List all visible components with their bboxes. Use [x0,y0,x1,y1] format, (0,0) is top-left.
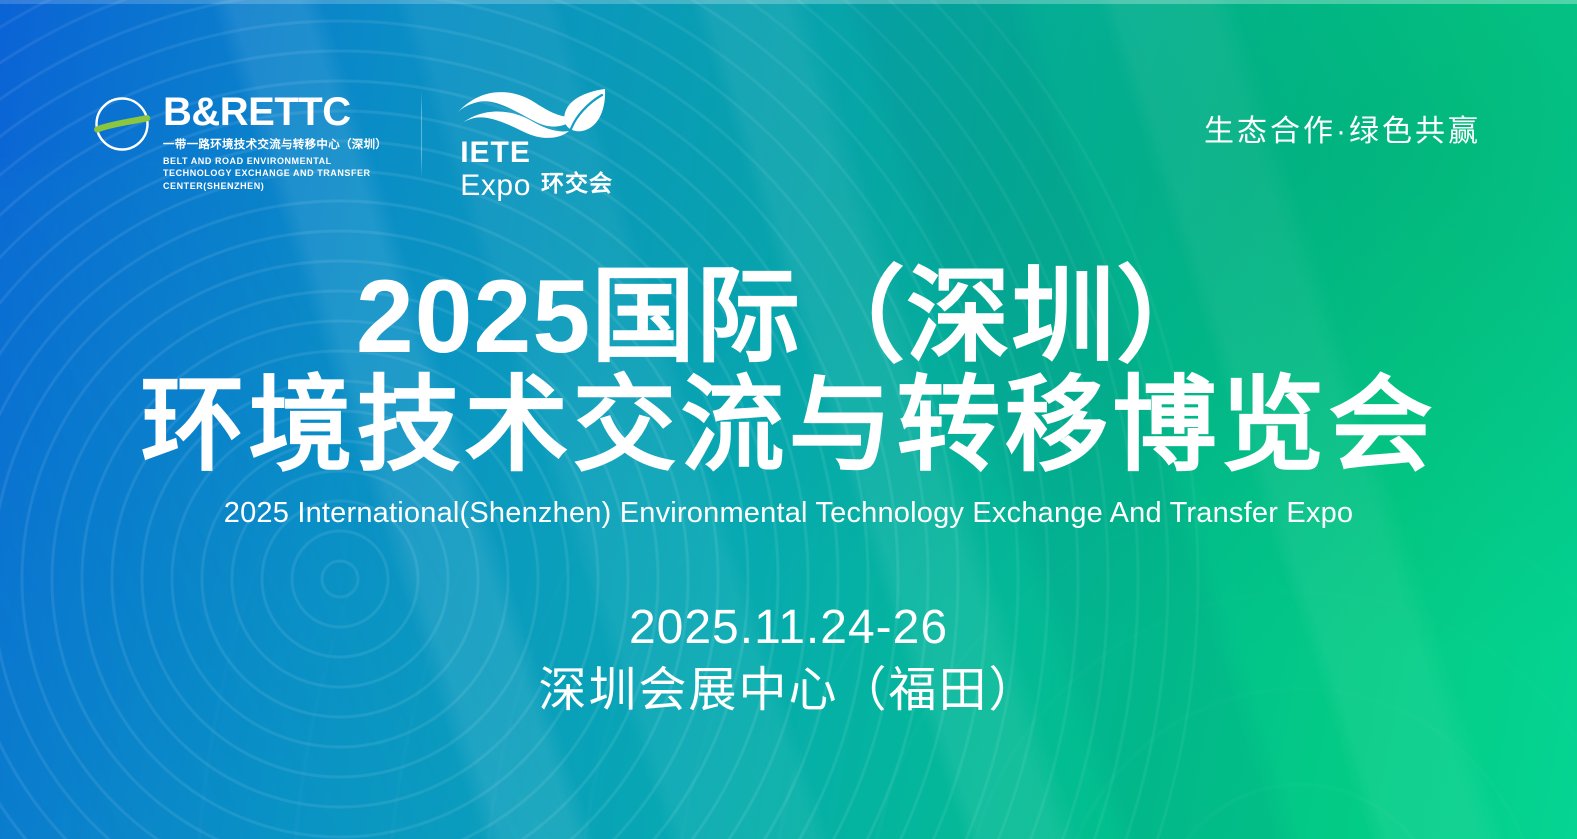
wave-leaf-icon [456,86,608,142]
brettc-subtitle-cn: 一带一路环境技术交流与转移中心（深圳） [163,136,387,152]
circle-globe-band-icon [92,94,152,154]
banner-slogan: 生态合作·绿色共赢 [1204,84,1481,150]
logo-divider [421,90,422,178]
brettc-logo[interactable]: B&RETTC 一带一路环境技术交流与转移中心（深圳） BELT AND ROA… [92,84,387,192]
iete-acronym: IETE [460,138,531,169]
title-chinese-line1: 2025国际（深圳） [40,262,1537,372]
banner-header: B&RETTC 一带一路环境技术交流与转移中心（深圳） BELT AND ROA… [0,84,1577,194]
event-date: 2025.11.24-26 [0,600,1577,657]
event-info-block: 2025.11.24-26 深圳会展中心（福田） [0,600,1577,719]
iete-word-cn: 环交会 [541,164,613,201]
title-english: 2025 International(Shenzhen) Environment… [40,497,1537,530]
brettc-wordmark: B&RETTC [163,92,387,132]
title-chinese-line2: 环境技术交流与转移博览会 [40,370,1537,482]
brettc-subtitle-en-line3: CENTER(SHENZHEN) [163,181,264,191]
event-venue: 深圳会展中心（福田） [0,663,1577,720]
iete-word: Expo [460,170,531,202]
logo-group: B&RETTC 一带一路环境技术交流与转移中心（深圳） BELT AND ROA… [92,84,613,201]
brettc-subtitle-en-line2: TECHNOLOGY EXCHANGE AND TRANSFER [163,168,371,178]
iete-expo-logo[interactable]: IETE Expo 环交会 [456,84,613,201]
background-top-highlight-strip [0,0,1577,4]
banner-title-block: 2025国际（深圳） 环境技术交流与转移博览会 2025 Internation… [0,262,1577,530]
brettc-subtitle-en-line1: BELT AND ROAD ENVIRONMENTAL [163,156,332,166]
event-banner: B&RETTC 一带一路环境技术交流与转移中心（深圳） BELT AND ROA… [0,0,1577,839]
